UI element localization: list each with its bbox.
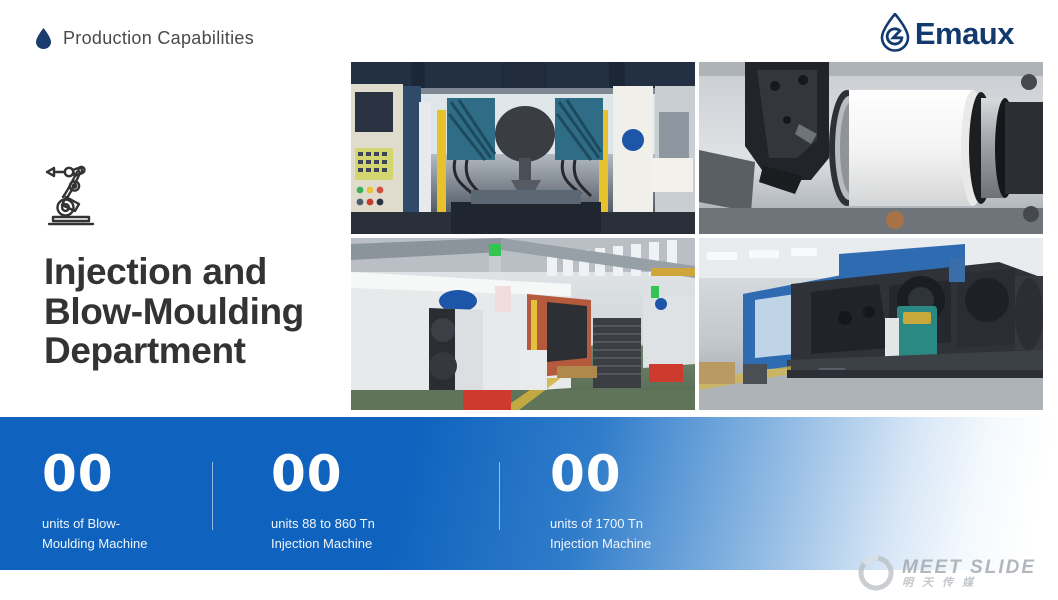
stat-divider (212, 462, 213, 530)
brand-name: Emaux (915, 18, 1014, 49)
watermark-title: MEET SLIDE (902, 558, 1036, 577)
stats-row: 00 units of Blow- Moulding Machine 00 un… (42, 417, 780, 570)
cnc-lathe-workpiece-photo (699, 62, 1043, 234)
stat-item-injection-88-860: 00 units 88 to 860 Tn Injection Machine (271, 417, 499, 554)
watermark-text: MEET SLIDE 明 天 传 媒 (902, 558, 1036, 589)
photo-grid (351, 62, 1043, 415)
ring-logo-icon (857, 554, 895, 592)
water-drop-icon (36, 28, 51, 49)
stat-label: units of 1700 Tn Injection Machine (550, 514, 780, 554)
watermark: MEET SLIDE 明 天 传 媒 (857, 554, 1036, 592)
stat-divider (499, 462, 500, 530)
stat-value: 00 (550, 449, 780, 499)
stat-value: 00 (271, 449, 499, 499)
stat-item-injection-1700: 00 units of 1700 Tn Injection Machine (550, 417, 780, 554)
stats-band: 00 units of Blow- Moulding Machine 00 un… (0, 417, 1058, 570)
large-injection-machine-photo (699, 238, 1043, 410)
page-kicker-label: Production Capabilities (63, 28, 254, 49)
page-title: Injection and Blow-Moulding Department (44, 252, 344, 371)
blow-moulding-machine-photo (351, 62, 695, 234)
stat-item-blow-moulding: 00 units of Blow- Moulding Machine (42, 417, 212, 554)
factory-floor-injection-line-photo (351, 238, 695, 410)
emaux-droplet-logo-icon (878, 13, 912, 53)
stat-value: 00 (42, 449, 212, 499)
brand-logo: Emaux (878, 13, 1014, 53)
robot-arm-icon (45, 160, 107, 232)
page-kicker: Production Capabilities (36, 28, 254, 49)
stat-label: units 88 to 860 Tn Injection Machine (271, 514, 499, 554)
stat-label: units of Blow- Moulding Machine (42, 514, 212, 554)
watermark-subtitle: 明 天 传 媒 (902, 578, 1036, 589)
slide-root: Production Capabilities Emaux Injec (0, 0, 1058, 600)
